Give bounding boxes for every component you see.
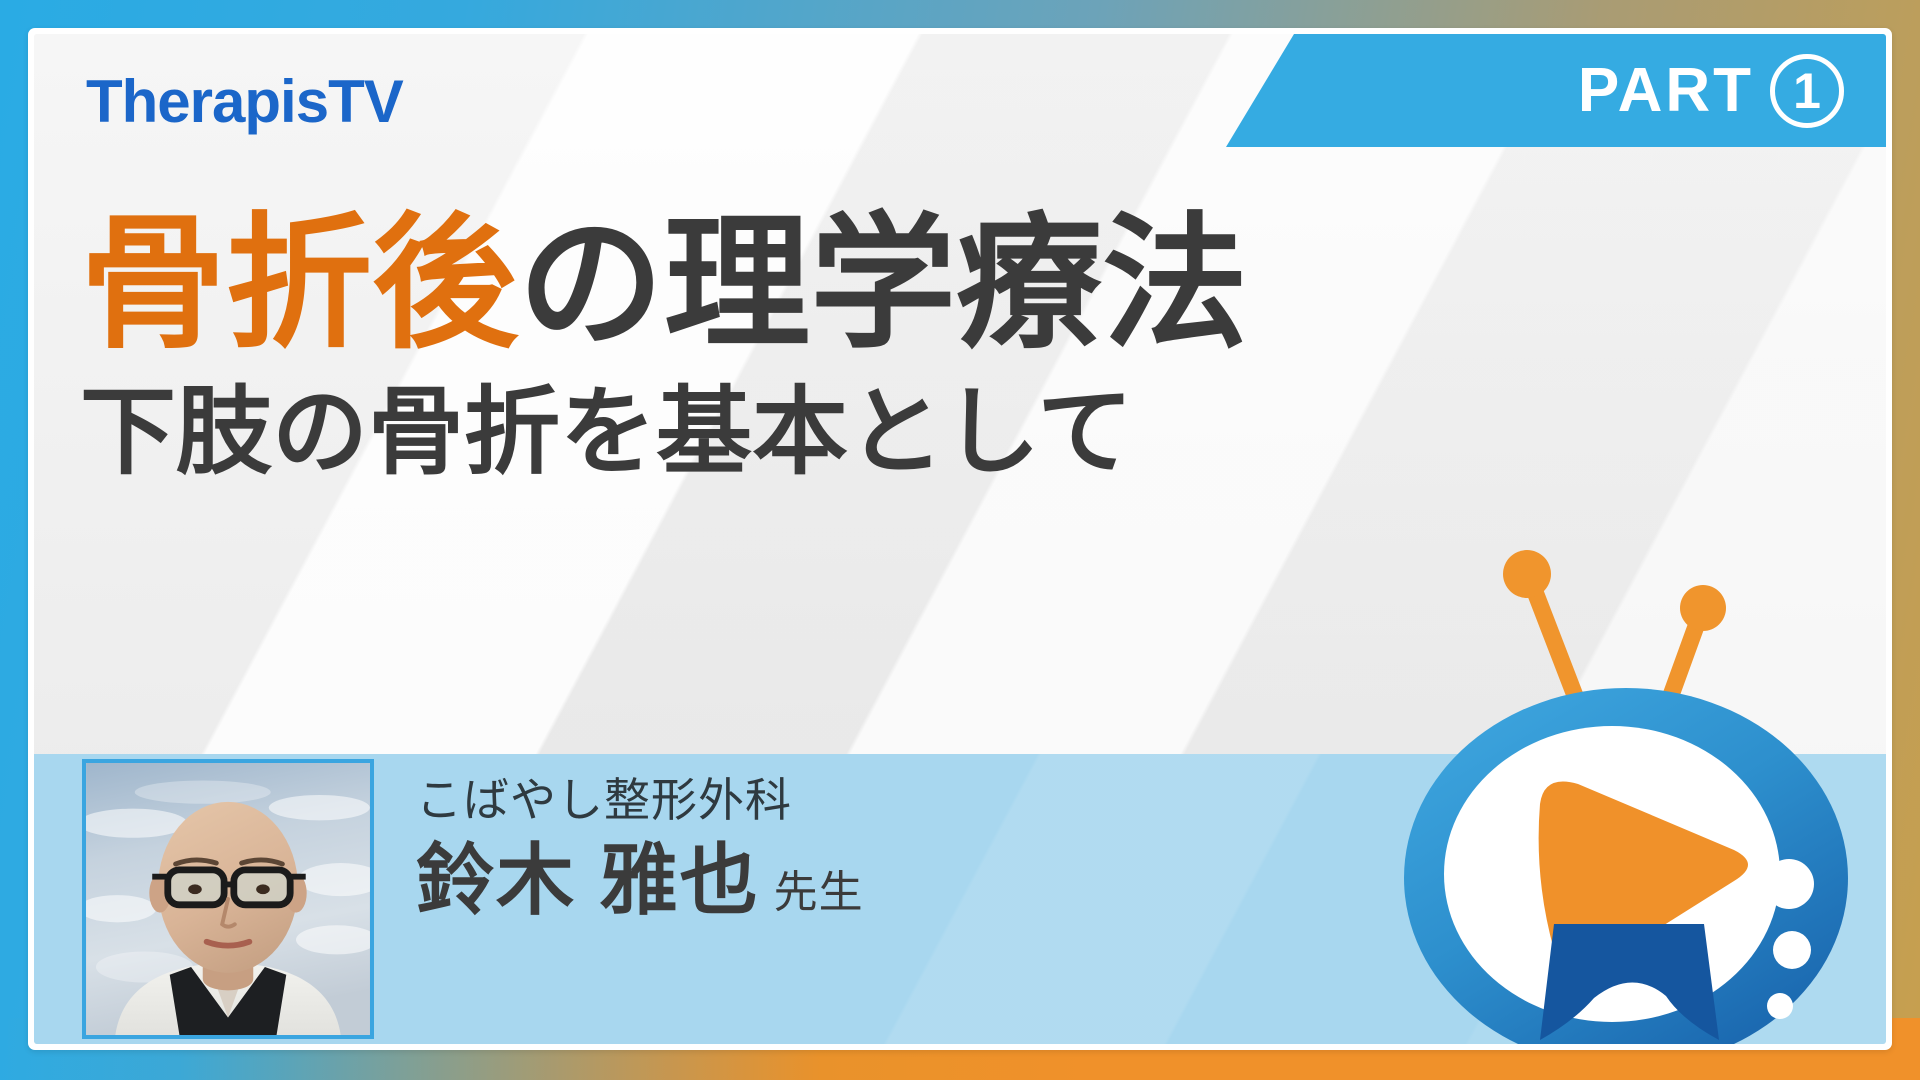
presenter-honorific: 先生 <box>774 868 864 917</box>
presenter-name: 鈴木 雅也 <box>416 836 760 924</box>
main-title: 骨折後の理学療法 <box>80 202 1440 366</box>
part-badge: PART 1 <box>1186 34 1886 147</box>
subtitle: 下肢の骨折を基本として <box>80 380 1440 486</box>
title-card: PART 1 TherapisTV 骨折後の理学療法 下肢の骨折を基本として <box>28 28 1892 1050</box>
presenter-band: こばやし整形外科 鈴木 雅也先生 <box>34 754 1886 1044</box>
title-card-inner: PART 1 TherapisTV 骨折後の理学療法 下肢の骨折を基本として <box>34 34 1886 1044</box>
presenter-portrait <box>82 759 374 1039</box>
part-number-circle: 1 <box>1770 54 1844 128</box>
clinic-name: こばやし整形外科 <box>416 772 864 830</box>
presenter-text: こばやし整形外科 鈴木 雅也先生 <box>416 772 864 923</box>
main-title-rest: の理学療法 <box>518 202 1248 365</box>
presenter-name-row: 鈴木 雅也先生 <box>416 838 864 924</box>
part-label: PART <box>1578 60 1754 122</box>
title-block: 骨折後の理学療法 下肢の骨折を基本として <box>80 202 1440 485</box>
brand-logo-text: TherapisTV <box>86 72 403 132</box>
slide-canvas: PART 1 TherapisTV 骨折後の理学療法 下肢の骨折を基本として <box>0 0 1920 1080</box>
main-title-highlight: 骨折後 <box>80 202 518 365</box>
